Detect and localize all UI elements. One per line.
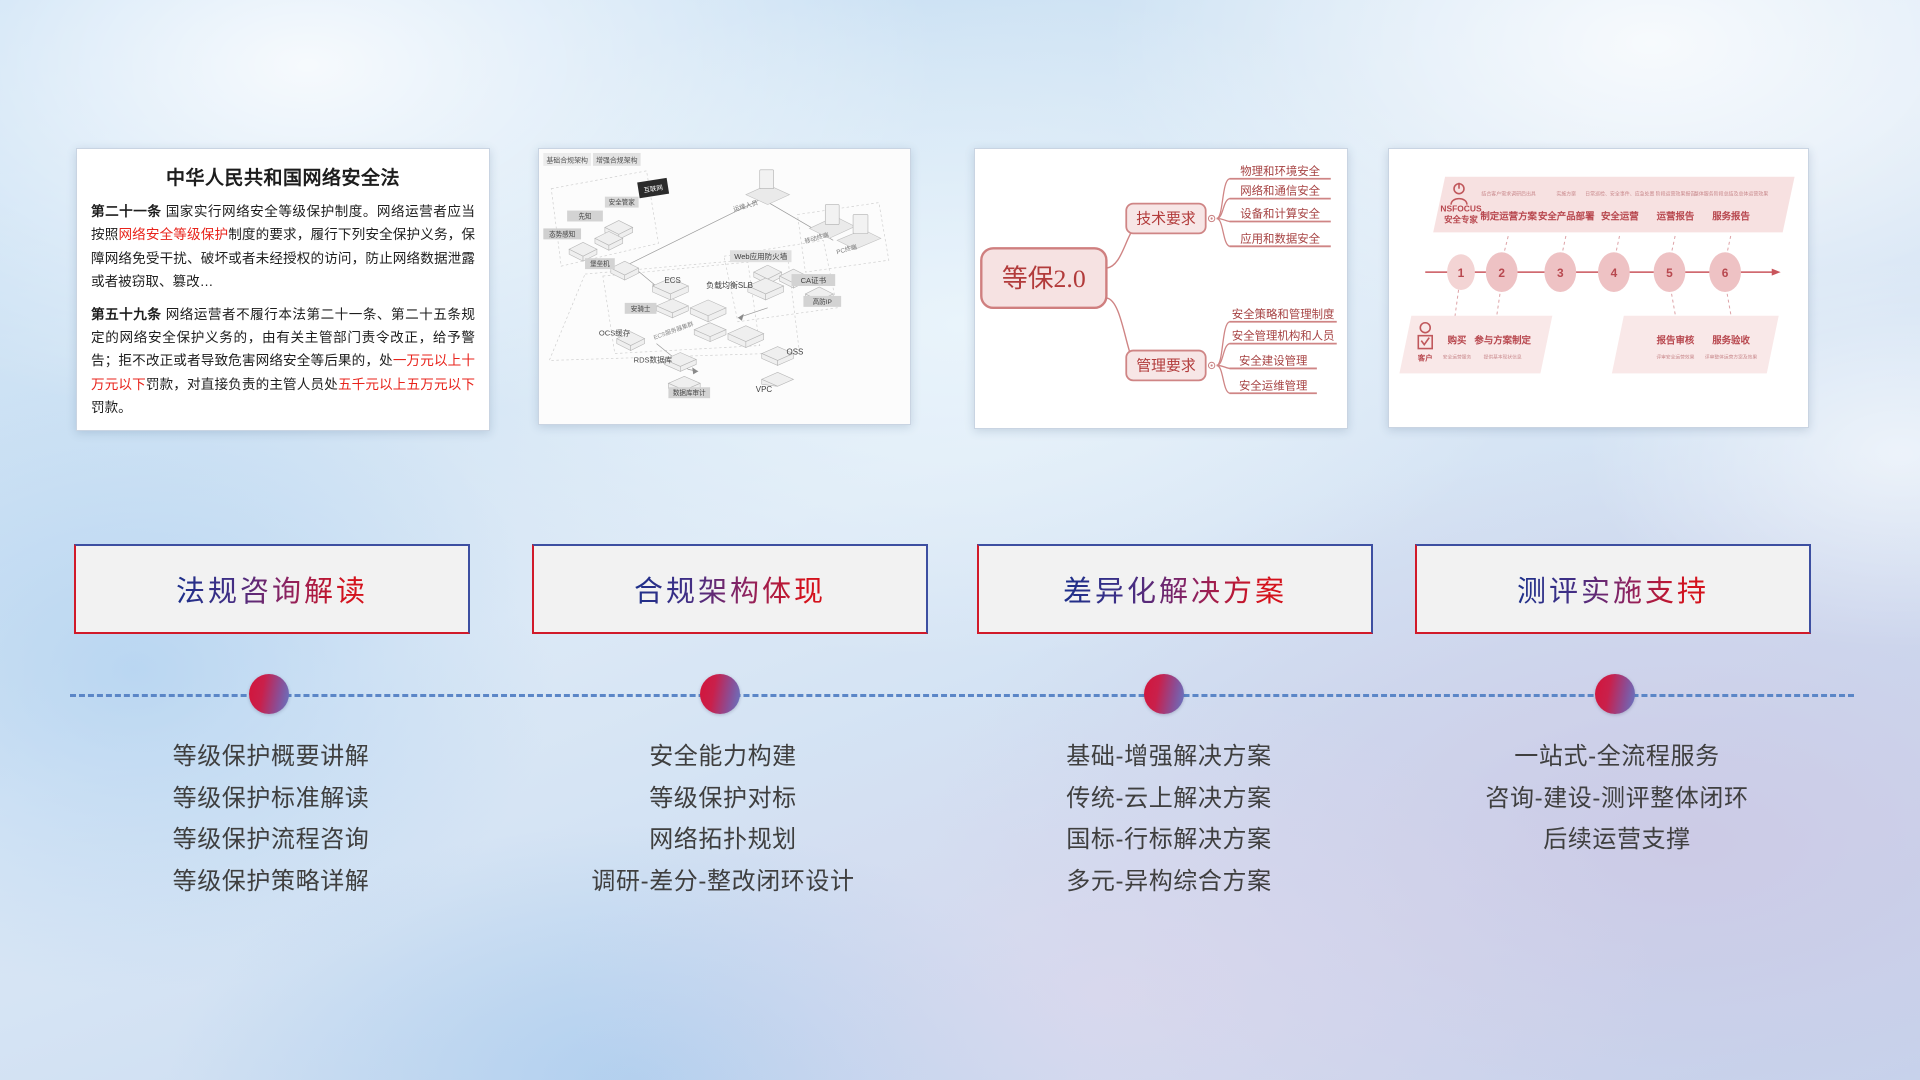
mindmap-item-build-mgmt: 安全建设管理 — [1239, 353, 1308, 367]
roadmap-step-3: 3 — [1557, 266, 1564, 280]
arch-label-anti-ddos: 高防IP — [813, 297, 833, 306]
roadmap-bottom-sub-3: 评审安全运营效果 — [1656, 353, 1694, 360]
arch-label-anqishi: 安骑士 — [631, 304, 651, 313]
roadmap-top-sub-6: 整体服务阶段总结及总体运营效果 — [1694, 191, 1768, 198]
roadmap-expert-line1: NSFOCUS — [1440, 204, 1482, 214]
law-article-59-text-b: 罚款，对直接负责的主管人员处 — [146, 377, 338, 392]
law-title: 中华人民共和国网络安全法 — [77, 163, 489, 190]
list-item: 国标-行标解决方案 — [962, 819, 1376, 861]
arch-label-rds: RDS数据库 — [634, 354, 673, 364]
roadmap-top-sub-3: 实施方案 — [1556, 191, 1576, 198]
roadmap-top-title-5: 运营报告 — [1657, 210, 1695, 221]
list-item: 等级保护概要讲解 — [64, 736, 478, 778]
law-article-59-highlight-2: 五千元以上五万元以下 — [338, 377, 475, 392]
roadmap-top-title-2: 制定运营方案 — [1480, 210, 1537, 221]
section-header-box-1[interactable]: 法规咨询解读 — [74, 544, 470, 634]
mindmap-item-physical-env: 物理和环境安全 — [1240, 164, 1320, 178]
list-column-4: 一站式-全流程服务 咨询-建设-测评整体闭环 后续运营支撑 — [1410, 736, 1824, 861]
mindmap-item-device-compute: 设备和计算安全 — [1240, 207, 1320, 221]
mindmap-root-label: 等保2.0 — [1002, 264, 1086, 293]
law-article-59-text-c: 罚款。 — [91, 400, 132, 415]
list-item: 调研-差分-整改闭环设计 — [516, 861, 930, 903]
arch-label-security-steward: 安全管家 — [609, 198, 636, 207]
roadmap-top-sub-4: 日常巡检、安全事件、应急处置 — [1585, 191, 1654, 198]
arch-label-situation-awareness: 态势感知 — [549, 229, 575, 238]
mindmap-item-app-data: 应用和数据安全 — [1240, 231, 1320, 245]
list-item: 等级保护流程咨询 — [64, 819, 478, 861]
roadmap-top-band — [1433, 177, 1794, 233]
section-header-label-2: 合规架构体现 — [634, 568, 826, 610]
timeline-node-2[interactable] — [700, 674, 740, 714]
roadmap-top-sub-5: 阶段运营效果报告 — [1656, 191, 1696, 198]
roadmap-bottom-sub-1: 安全运营服务 — [1443, 353, 1472, 360]
mindmap-item-org-people: 安全管理机构和人员 — [1232, 329, 1335, 343]
timeline — [0, 660, 1920, 730]
arch-label-oss: OSS — [787, 348, 804, 357]
section-headers-row: 法规咨询解读 合规架构体现 差异化解决方案 测评实施支持 — [0, 544, 1920, 636]
law-article-21-highlight: 网络安全等级保护 — [118, 227, 228, 242]
list-item: 基础-增强解决方案 — [962, 736, 1376, 778]
roadmap-bottom-title-1: 购买 — [1448, 335, 1467, 346]
arch-label-ocs: OCS缓存 — [599, 328, 631, 338]
roadmap-bottom-title-2: 参与方案制定 — [1474, 335, 1531, 346]
mindmap-item-policy: 安全策略和管理制度 — [1232, 307, 1335, 321]
list-item: 后续运营支撑 — [1410, 819, 1824, 861]
card-compliance-architecture[interactable]: 基础合规架构 增强合规架构 — [538, 148, 911, 425]
section-header-label-1: 法规咨询解读 — [176, 568, 368, 610]
list-column-3: 基础-增强解决方案 传统-云上解决方案 国标-行标解决方案 多元-异构综合方案 — [962, 736, 1376, 902]
arch-label-bastion: 堡垒机 — [590, 259, 610, 268]
list-column-1: 等级保护概要讲解 等级保护标准解读 等级保护流程咨询 等级保护策略详解 — [64, 736, 478, 902]
arch-label-slb: 负载均衡SLB — [706, 280, 753, 290]
roadmap-diagram: 1 2 3 4 5 6 NSFOCUS 安全专家 制定运营方案 结合客户需求调研… — [1389, 149, 1808, 427]
roadmap-expert-line2: 安全专家 — [1444, 214, 1478, 224]
timeline-node-3[interactable] — [1144, 674, 1184, 714]
timeline-dashed-line — [70, 694, 1854, 697]
arch-label-db-audit: 数据库审计 — [673, 388, 706, 397]
arch-label-waf: Web应用防火墙 — [734, 251, 787, 261]
section-header-box-3[interactable]: 差异化解决方案 — [977, 544, 1373, 634]
law-article-59: 第五十九条 网络运营者不履行本法第二十一条、第二十五条规定的网络安全保护义务的，… — [91, 303, 475, 420]
roadmap-customer-label: 客户 — [1417, 352, 1433, 362]
list-item: 传统-云上解决方案 — [962, 778, 1376, 820]
section-header-box-2[interactable]: 合规架构体现 — [532, 544, 928, 634]
roadmap-bottom-sub-4: 评审整体运营方案及效果 — [1705, 353, 1758, 360]
section-header-label-3: 差异化解决方案 — [1063, 568, 1287, 610]
card-dengbao-mindmap[interactable]: 等保2.0 技术要求 物理和环境安全 网络和通信安全 设备和计算安全 — [974, 148, 1348, 429]
roadmap-bottom-sub-2: 提供基本现状信息 — [1484, 353, 1522, 360]
list-item: 一站式-全流程服务 — [1410, 736, 1824, 778]
bottom-lists-row: 等级保护概要讲解 等级保护标准解读 等级保护流程咨询 等级保护策略详解 安全能力… — [0, 736, 1920, 976]
law-article-59-label: 第五十九条 — [91, 307, 161, 322]
timeline-node-4[interactable] — [1595, 674, 1635, 714]
roadmap-step-4: 4 — [1611, 266, 1618, 280]
card-cybersecurity-law[interactable]: 中华人民共和国网络安全法 第二十一条 国家实行网络安全等级保护制度。网络运营者应… — [76, 148, 490, 431]
roadmap-step-6: 6 — [1722, 266, 1729, 280]
roadmap-bottom-title-4: 服务验收 — [1712, 335, 1750, 346]
architecture-diagram: 基础合规架构 增强合规架构 — [539, 149, 910, 424]
mindmap-diagram: 等保2.0 技术要求 物理和环境安全 网络和通信安全 设备和计算安全 — [975, 149, 1347, 428]
roadmap-step-2: 2 — [1498, 266, 1505, 280]
roadmap-top-title-4: 安全运营 — [1601, 210, 1639, 221]
arch-label-ca: CA证书 — [801, 275, 827, 285]
roadmap-bottom-band-right — [1612, 316, 1779, 374]
arch-tab-enhanced: 增强合规架构 — [596, 155, 638, 164]
card-service-roadmap[interactable]: 1 2 3 4 5 6 NSFOCUS 安全专家 制定运营方案 结合客户需求调研… — [1388, 148, 1809, 428]
list-item: 咨询-建设-测评整体闭环 — [1410, 778, 1824, 820]
section-header-label-4: 测评实施支持 — [1517, 568, 1709, 610]
arch-label-xianzhi: 先知 — [578, 211, 591, 220]
section-header-box-4[interactable]: 测评实施支持 — [1415, 544, 1811, 634]
list-column-2: 安全能力构建 等级保护对标 网络拓扑规划 调研-差分-整改闭环设计 — [516, 736, 930, 902]
mindmap-branch-management-label: 管理要求 — [1136, 357, 1196, 374]
mindmap-item-ops-mgmt: 安全运维管理 — [1239, 378, 1308, 392]
list-item: 网络拓扑规划 — [516, 819, 930, 861]
roadmap-top-title-6: 服务报告 — [1712, 210, 1750, 221]
list-item: 多元-异构综合方案 — [962, 861, 1376, 903]
law-article-21: 第二十一条 国家实行网络安全等级保护制度。网络运营者应当按照网络安全等级保护制度… — [91, 200, 475, 294]
roadmap-top-title-3: 安全产品部署 — [1538, 210, 1595, 221]
law-article-21-label: 第二十一条 — [91, 204, 161, 219]
cards-row: 中华人民共和国网络安全法 第二十一条 国家实行网络安全等级保护制度。网络运营者应… — [0, 148, 1920, 438]
list-item: 等级保护标准解读 — [64, 778, 478, 820]
roadmap-step-5: 5 — [1666, 266, 1673, 280]
roadmap-bottom-title-3: 报告审核 — [1657, 335, 1695, 346]
roadmap-top-sub-2: 结合客户需求调研后出具 — [1481, 191, 1536, 198]
arch-tab-basic: 基础合规架构 — [546, 155, 588, 164]
list-item: 等级保护对标 — [516, 778, 930, 820]
list-item: 等级保护策略详解 — [64, 861, 478, 903]
list-item: 安全能力构建 — [516, 736, 930, 778]
arch-label-ecs: ECS — [664, 276, 680, 285]
mindmap-item-network-comm: 网络和通信安全 — [1240, 184, 1320, 198]
roadmap-step-1: 1 — [1458, 266, 1465, 280]
timeline-node-1[interactable] — [249, 674, 289, 714]
mindmap-branch-technical-label: 技术要求 — [1136, 210, 1196, 227]
arch-label-vpc: VPC — [756, 385, 773, 394]
